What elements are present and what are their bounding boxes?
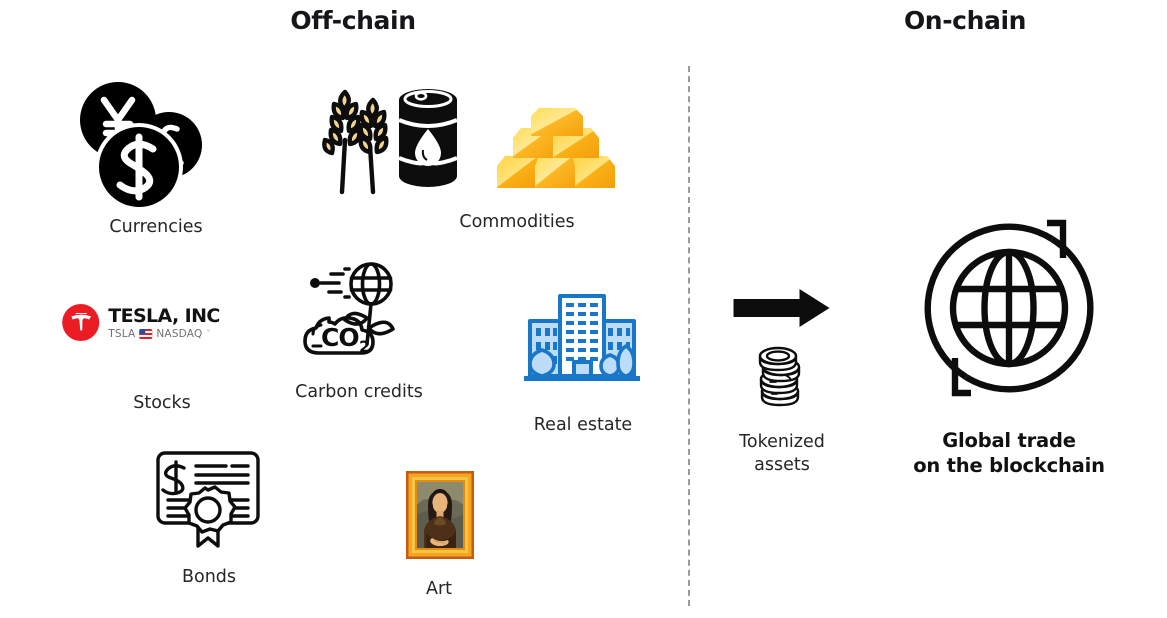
asset-label-currencies: Currencies: [109, 216, 202, 238]
tesla-logo-icon: [62, 304, 99, 341]
coins-currency-icon: [73, 75, 205, 207]
tesla-exchange: NASDAQ: [156, 328, 202, 340]
tesla-card-meta: TSLA NASDAQ ˅: [108, 328, 220, 340]
co2-cloud-plant-globe-icon: CO 2: [299, 262, 407, 366]
svg-text:CO: CO: [321, 323, 359, 352]
asset-label-commodities: Commodities: [459, 211, 574, 233]
asset-label-bonds: Bonds: [182, 566, 236, 588]
globe-rotating-arrows-icon: [917, 215, 1101, 401]
tesla-card-text: TESLA, INC TSLA NASDAQ ˅: [108, 305, 220, 340]
asset-label-art: Art: [426, 578, 452, 600]
asset-label-stocks: Stocks: [133, 392, 191, 414]
oil-barrel-icon: [394, 84, 462, 192]
diagram-canvas: Off-chain On-chain: [0, 0, 1167, 618]
certificate-seal-icon: [154, 448, 262, 548]
onchain-section-heading: On-chain: [904, 6, 1026, 35]
gold-bars-icon: [495, 108, 617, 194]
onchain-result-label-line1: Global trade: [942, 428, 1076, 453]
bridge-label-line1: Tokenized: [739, 431, 825, 453]
us-flag-icon: [139, 329, 152, 339]
asset-label-real-estate: Real estate: [534, 414, 632, 436]
bridge-label-line2: assets: [754, 454, 810, 476]
right-arrow-icon: [734, 288, 831, 328]
tesla-ticker: TSLA: [108, 328, 135, 340]
chevron-down-icon[interactable]: ˅: [206, 330, 210, 338]
mona-lisa-painting-icon: [406, 471, 474, 559]
wheat-stalks-icon: [318, 82, 396, 194]
onchain-result-label-line2: on the blockchain: [913, 453, 1105, 478]
offchain-section-heading: Off-chain: [290, 6, 415, 35]
dashed-vertical-divider: [688, 66, 690, 606]
svg-text:2: 2: [359, 337, 370, 356]
tesla-company-name: TESLA, INC: [108, 305, 220, 327]
city-buildings-icon: [522, 288, 642, 386]
tesla-stock-card[interactable]: TESLA, INC TSLA NASDAQ ˅: [62, 304, 220, 341]
coin-stack-icon: [752, 345, 808, 417]
asset-label-carbon-credits: Carbon credits: [295, 381, 423, 403]
